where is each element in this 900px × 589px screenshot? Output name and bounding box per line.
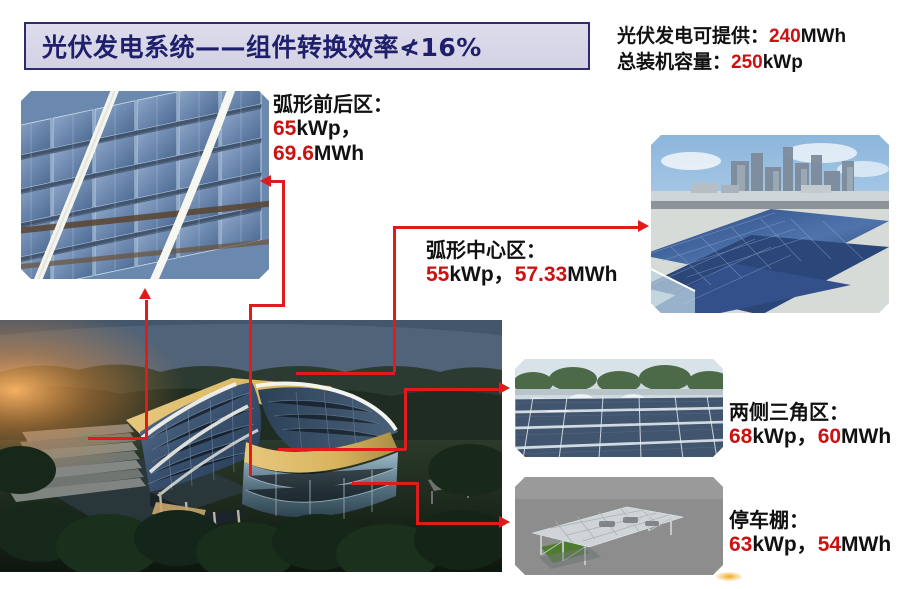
- carport-render-illustration: [515, 477, 723, 575]
- label-arc-front-back-heading: 弧形前后区：: [273, 92, 393, 116]
- label-side-triangles-values: 68kWp，60MWh: [729, 424, 891, 449]
- label-carport-heading: 停车棚：: [729, 508, 891, 532]
- connector-d-horizontal-in: [278, 448, 406, 451]
- panel-rows-trees-illustration: [515, 359, 723, 457]
- arc-center-mwh-value: 57.33: [515, 263, 568, 286]
- summary-block: 光伏发电可提供：240MWh 总装机容量：250kWp: [617, 24, 846, 75]
- page-title-box: 光伏发电系统——组件转换效率≮16%: [24, 22, 590, 70]
- connector-c-horizontal-top: [393, 226, 641, 229]
- rooftop-array-city-photo: [644, 128, 896, 320]
- summary-capacity-value: 250: [731, 52, 763, 73]
- connector-b-vertical-low: [249, 440, 252, 476]
- summary-row-generation: 光伏发电可提供：240MWh: [617, 24, 846, 50]
- connector-c-horizontal-bottom: [296, 372, 395, 375]
- arc-front-kwp-value: 65: [273, 117, 296, 140]
- page-title: 光伏发电系统——组件转换效率≮16%: [42, 28, 482, 64]
- arc-front-kwp-unit: kWp，: [296, 117, 361, 140]
- label-arc-center: 弧形中心区： 55kWp，57.33MWh: [426, 238, 617, 287]
- summary-row-capacity: 总装机容量：250kWp: [617, 50, 846, 76]
- label-side-triangles-heading: 两侧三角区：: [729, 400, 891, 424]
- carport-mwh-unit: MWh: [841, 533, 891, 556]
- roof-panels-closeup-illustration: [21, 91, 269, 279]
- connector-a-arrowhead: [139, 288, 151, 299]
- label-arc-front-back-line3: 69.6MWh: [273, 141, 393, 166]
- summary-generation-label: 光伏发电可提供：: [617, 26, 769, 47]
- connector-e-arrowhead: [499, 516, 510, 528]
- rooftop-array-city-illustration: [651, 135, 889, 313]
- arc-center-kwp-value: 55: [426, 263, 449, 286]
- tri-kwp-value: 68: [729, 425, 752, 448]
- carport-kwp-unit: kWp，: [752, 533, 817, 556]
- carport-mwh-value: 54: [818, 533, 841, 556]
- summary-generation-value: 240: [769, 26, 801, 47]
- connector-b-jog: [249, 304, 285, 307]
- connector-c-arrowhead: [638, 220, 649, 232]
- slide-canvas: 光伏发电系统——组件转换效率≮16% 光伏发电可提供：240MWh 总装机容量：…: [0, 0, 900, 589]
- connector-d-vertical: [404, 388, 407, 450]
- carport-render-photo: [508, 470, 730, 582]
- connector-e-vertical: [416, 482, 419, 524]
- bottom-orange-artifact: [716, 572, 742, 581]
- tri-mwh-unit: MWh: [841, 425, 891, 448]
- arc-center-mwh-unit: MWh: [567, 263, 617, 286]
- arc-front-mwh-value: 69.6: [273, 142, 314, 165]
- connector-b-horizontal: [270, 180, 284, 183]
- label-arc-front-back-line2: 65kWp，: [273, 116, 393, 141]
- label-arc-front-back: 弧形前后区： 65kWp， 69.6MWh: [273, 92, 393, 166]
- arc-center-kwp-unit: kWp，: [449, 263, 514, 286]
- roof-panels-closeup-photo: [14, 84, 276, 286]
- label-arc-center-heading: 弧形中心区：: [426, 238, 617, 262]
- label-arc-center-values: 55kWp，57.33MWh: [426, 262, 617, 287]
- connector-e-horizontal-in: [352, 482, 418, 485]
- connector-a-horizontal: [88, 437, 148, 440]
- connector-b-vertical: [249, 306, 252, 440]
- label-carport-values: 63kWp，54MWh: [729, 532, 891, 557]
- carport-kwp-value: 63: [729, 533, 752, 556]
- connector-b-arrowhead: [260, 175, 271, 187]
- connector-e-horizontal: [416, 522, 502, 525]
- connector-a-vertical: [145, 300, 148, 439]
- summary-capacity-label: 总装机容量：: [617, 52, 731, 73]
- connector-c-vertical: [393, 226, 396, 372]
- label-side-triangles: 两侧三角区： 68kWp，60MWh: [729, 400, 891, 449]
- tri-mwh-value: 60: [818, 425, 841, 448]
- summary-generation-unit: MWh: [801, 26, 846, 47]
- arc-front-mwh-unit: MWh: [314, 142, 364, 165]
- connector-d-horizontal: [404, 388, 502, 391]
- tri-kwp-unit: kWp，: [752, 425, 817, 448]
- label-carport: 停车棚： 63kWp，54MWh: [729, 508, 891, 557]
- connector-d-arrowhead: [499, 382, 510, 394]
- summary-capacity-unit: kWp: [763, 52, 803, 73]
- connector-b-vertical-up: [282, 180, 285, 306]
- panel-rows-trees-photo: [508, 352, 730, 464]
